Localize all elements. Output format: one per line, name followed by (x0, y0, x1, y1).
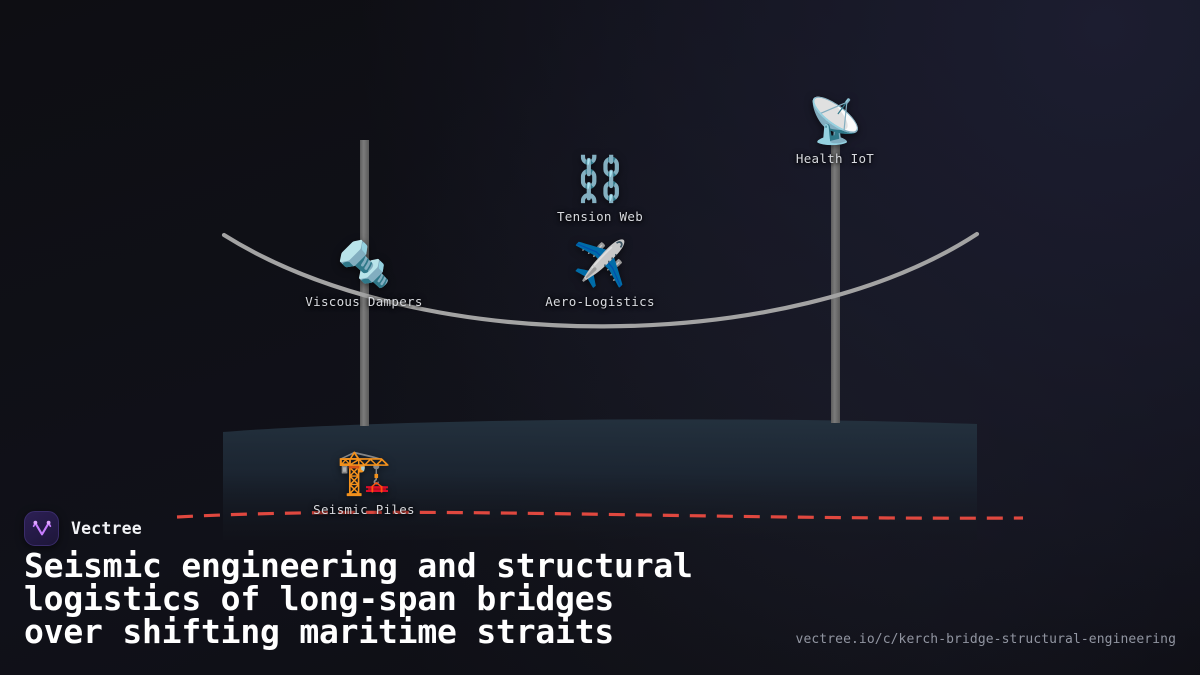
brand-name: Vectree (71, 519, 142, 538)
node-aero-logistics[interactable]: ✈️ Aero-Logistics (545, 243, 655, 309)
node-label-aero-logistics: Aero-Logistics (545, 294, 655, 309)
node-tension-web[interactable]: ⛓️ Tension Web (557, 158, 643, 224)
social-card-canvas: 📡 Health IoT ⛓️ Tension Web ✈️ Aero-Logi… (0, 0, 1200, 675)
chains-link-icon: ⛓️ (573, 158, 628, 202)
page-title: Seismic engineering and structural logis… (24, 549, 824, 648)
brand-lockup[interactable]: Vectree (24, 511, 142, 546)
node-viscous-dampers[interactable]: 🔩 Viscous Dampers (305, 243, 422, 309)
satellite-dish-icon: 📡 (808, 100, 863, 144)
right-tower (831, 145, 840, 423)
building-construction-icon: 🏗️ (337, 451, 392, 495)
node-seismic-piles[interactable]: 🏗️ Seismic Piles (313, 451, 415, 517)
node-label-tension-web: Tension Web (557, 209, 643, 224)
airplane-icon: ✈️ (573, 243, 628, 287)
nut-and-bolt-icon: 🔩 (337, 243, 392, 287)
node-label-health-iot: Health IoT (796, 151, 874, 166)
node-label-viscous-dampers: Viscous Dampers (305, 294, 422, 309)
node-health-iot[interactable]: 📡 Health IoT (796, 100, 874, 166)
node-label-seismic-piles: Seismic Piles (313, 502, 415, 517)
vectree-tree-logo-icon (24, 511, 59, 546)
footer-url: vectree.io/c/kerch-bridge-structural-eng… (796, 632, 1176, 647)
